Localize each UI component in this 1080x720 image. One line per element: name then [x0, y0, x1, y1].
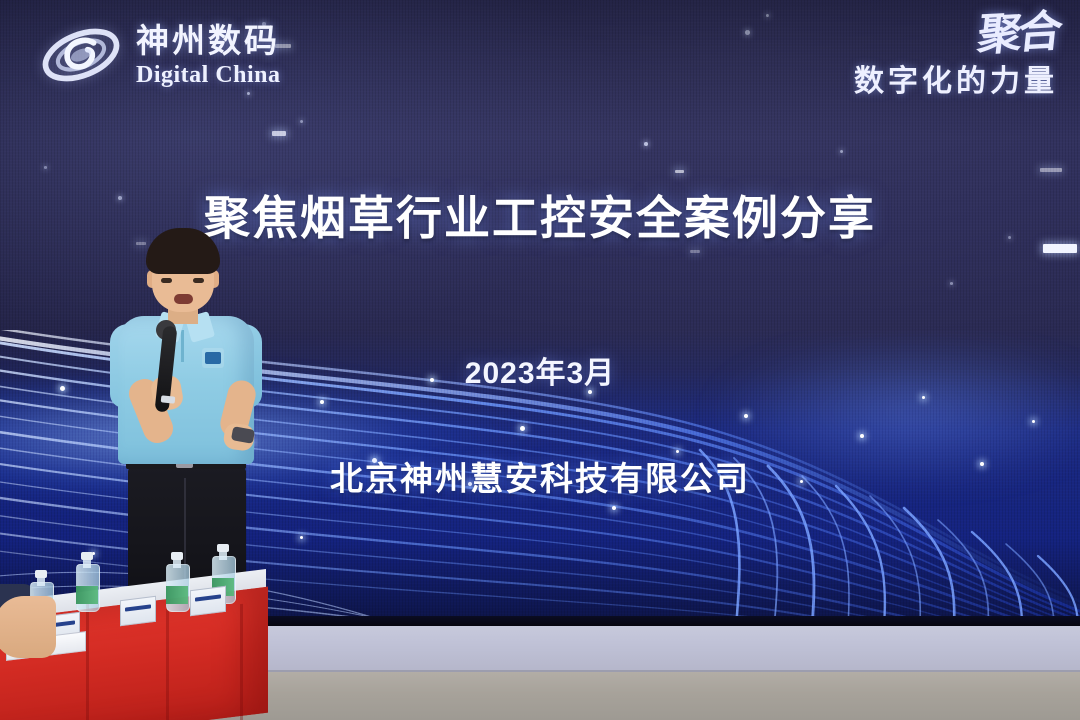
digital-china-wordmark: 神州数码 Digital China: [136, 24, 281, 87]
chest-logo-badge: [202, 348, 224, 368]
microphone-band: [161, 395, 176, 403]
name-card: [120, 596, 156, 626]
brand-name-chinese: 神州数码: [136, 24, 281, 57]
name-card: [190, 586, 226, 616]
shirt-placket: [181, 330, 184, 362]
slide-company-name: 北京神州慧安科技有限公司: [0, 452, 1080, 500]
slogan-calligraphy: 聚合: [976, 12, 1061, 57]
brand-name-english: Digital China: [136, 63, 281, 87]
skirt-fold: [86, 604, 89, 720]
speaker-eye-right: [193, 278, 204, 283]
digital-china-logo: 神州数码 Digital China: [40, 16, 281, 94]
speaker-hair: [146, 228, 220, 274]
speaker-figure: [96, 228, 274, 600]
water-bottle: [166, 552, 188, 612]
speaker-mouth: [174, 294, 193, 304]
seated-guest-arm: [0, 596, 56, 658]
skirt-fold: [240, 604, 243, 720]
speaker-eye-left: [161, 278, 172, 283]
skirt-fold: [166, 604, 169, 720]
conference-photo: 神州数码 Digital China 聚合 数字化的力量 聚焦烟草行业工控安全案…: [0, 0, 1080, 720]
slogan-subtitle: 数字化的力量: [854, 56, 1058, 100]
event-slogan: 聚合 数字化的力量: [854, 14, 1058, 100]
water-bottle: [76, 552, 98, 612]
digital-china-swirl-icon: [40, 16, 122, 94]
